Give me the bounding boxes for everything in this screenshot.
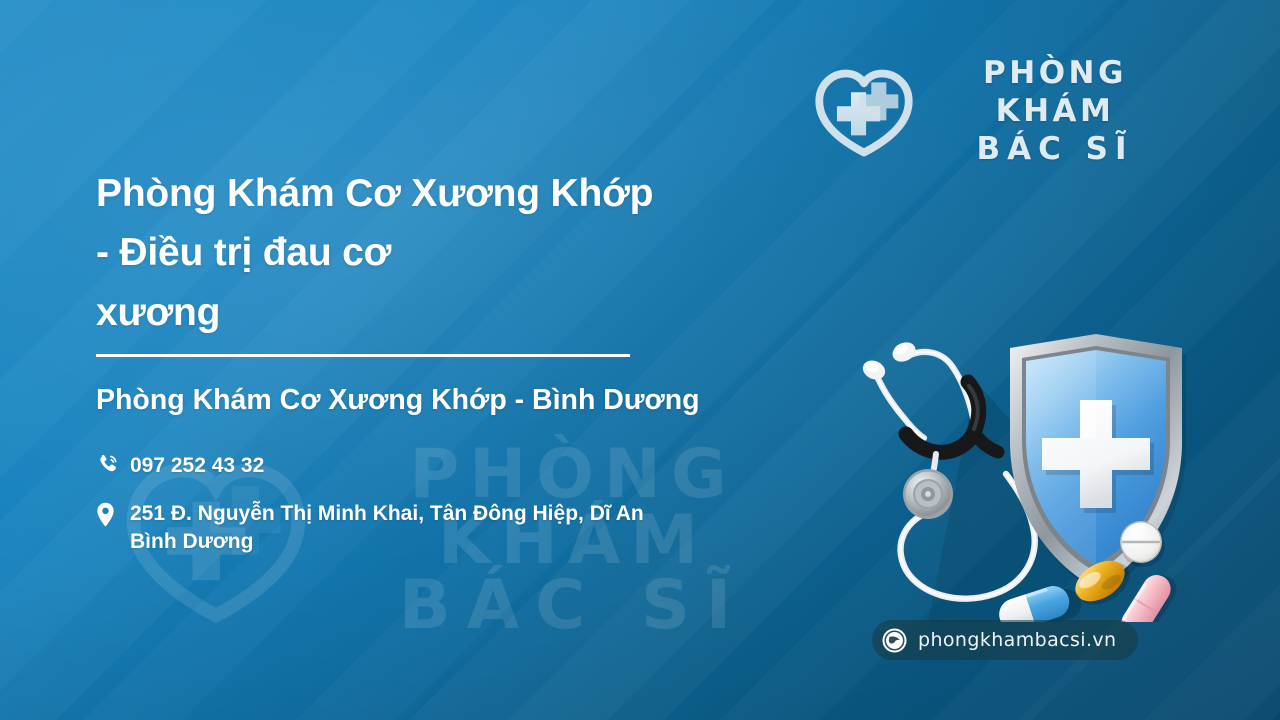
page-title-line-2: - Điều trị đau cơ: [96, 223, 756, 282]
phone-number: 097 252 43 32: [130, 452, 264, 480]
address-row[interactable]: 251 Đ. Nguyễn Thị Minh Khai, Tân Đông Hi…: [96, 500, 816, 556]
brand-line-1: PHÒNG KHÁM: [930, 55, 1180, 131]
heart-cross-medical-logo-icon: [812, 60, 916, 164]
brand-text: PHÒNG KHÁM BÁC SĨ: [930, 55, 1180, 168]
contact-info: 097 252 43 32 251 Đ. Nguyễn Thị Minh Kha…: [96, 452, 816, 556]
medical-illustration: [848, 322, 1188, 622]
website-badge[interactable]: phongkhambacsi.vn: [872, 620, 1138, 660]
phone-call-icon: [96, 452, 130, 476]
website-url: phongkhambacsi.vn: [918, 629, 1116, 651]
page-title-line-1: Phòng Khám Cơ Xương Khớp: [96, 164, 756, 223]
banner-canvas: PHÒNG KHÁM BÁC SĨ PHÒNG KHÁM BÁC SĨ: [0, 0, 1280, 720]
brand-line-2: BÁC SĨ: [930, 131, 1180, 169]
clinic-name: Phòng Khám Cơ Xương Khớp - Bình Dương: [96, 382, 700, 419]
map-pin-icon: [96, 500, 130, 527]
phone-row[interactable]: 097 252 43 32: [96, 452, 816, 480]
globe-icon: [882, 628, 907, 653]
brand-logo: PHÒNG KHÁM BÁC SĨ: [812, 60, 1180, 164]
address-line-2: Bình Dương: [130, 528, 644, 556]
address-line-1: 251 Đ. Nguyễn Thị Minh Khai, Tân Đông Hi…: [130, 500, 644, 528]
page-title-line-3: xương: [96, 283, 756, 342]
watermark-line-2: BÁC SĨ: [328, 573, 818, 639]
address-text: 251 Đ. Nguyễn Thị Minh Khai, Tân Đông Hi…: [130, 500, 644, 556]
page-title: Phòng Khám Cơ Xương Khớp - Điều trị đau …: [96, 164, 756, 342]
divider: [96, 354, 630, 357]
